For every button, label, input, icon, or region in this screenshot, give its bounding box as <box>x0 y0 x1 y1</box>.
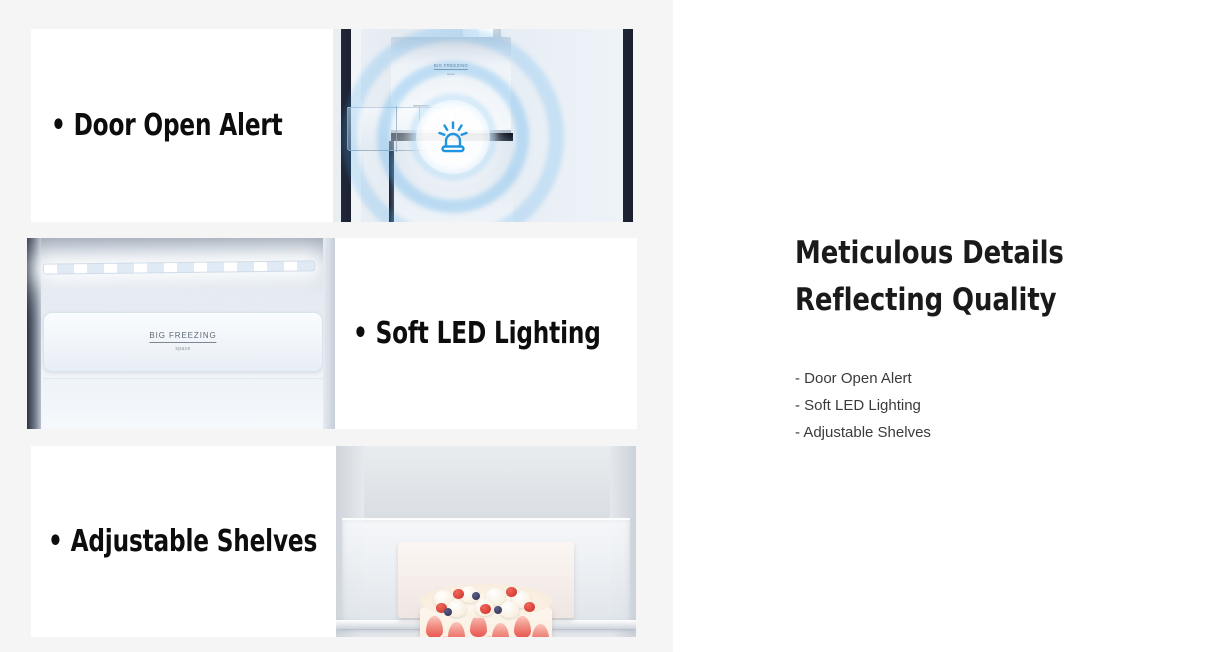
feature-list: - Door Open Alert - Soft LED Lighting - … <box>795 365 1195 446</box>
freezer-lower-compartment-graphic <box>43 378 323 429</box>
big-freezing-text: BIG FREEZING <box>149 331 216 343</box>
refrigerator-photo: BIG FREEZING space <box>333 29 633 222</box>
panel-caption-soft-led-lighting: • Soft LED Lighting <box>353 316 601 351</box>
panel-image-door-open-alert: BIG FREEZING space <box>333 29 633 222</box>
product-info-column: Meticulous Details Reflecting Quality - … <box>795 0 1212 652</box>
page-title: Meticulous Details Reflecting Quality <box>795 230 1178 324</box>
panel-caption-cell: • Door Open Alert <box>31 29 333 222</box>
refrigerator-shelf-photo <box>336 446 636 637</box>
feature-panel-soft-led-lighting[interactable]: BIG FREEZING space • Soft LED Lighting <box>27 238 637 429</box>
panel-caption-adjustable-shelves: • Adjustable Shelves <box>48 524 317 559</box>
list-item: - Door Open Alert <box>795 365 1195 392</box>
list-item: - Adjustable Shelves <box>795 419 1195 446</box>
space-text: space <box>149 346 216 352</box>
panel-caption-cell: • Adjustable Shelves <box>31 446 336 637</box>
freezer-drawer-label: BIG FREEZING space <box>149 331 216 352</box>
panel-image-soft-led-lighting: BIG FREEZING space <box>27 238 335 429</box>
freezer-drawer-graphic: BIG FREEZING space <box>43 312 323 372</box>
cake-tray-graphic <box>398 542 574 618</box>
feature-panel-adjustable-shelves[interactable]: • Adjustable Shelves <box>31 446 636 637</box>
led-light-strip-graphic <box>43 260 315 274</box>
product-feature-page: • Door Open Alert BIG FREEZING space <box>0 0 1212 652</box>
list-item: - Soft LED Lighting <box>795 392 1195 419</box>
panel-image-adjustable-shelves <box>336 446 636 637</box>
siren-alert-icon <box>432 116 474 163</box>
feature-panel-door-open-alert[interactable]: • Door Open Alert BIG FREEZING space <box>31 29 633 222</box>
image-gallery: • Door Open Alert BIG FREEZING space <box>0 0 673 652</box>
panel-caption-cell: • Soft LED Lighting <box>335 238 637 429</box>
shelf-back-wall-graphic <box>336 446 636 524</box>
panel-caption-door-open-alert: • Door Open Alert <box>51 108 283 143</box>
refrigerator-interior-photo: BIG FREEZING space <box>27 238 335 429</box>
cake-top-graphic <box>420 584 552 618</box>
